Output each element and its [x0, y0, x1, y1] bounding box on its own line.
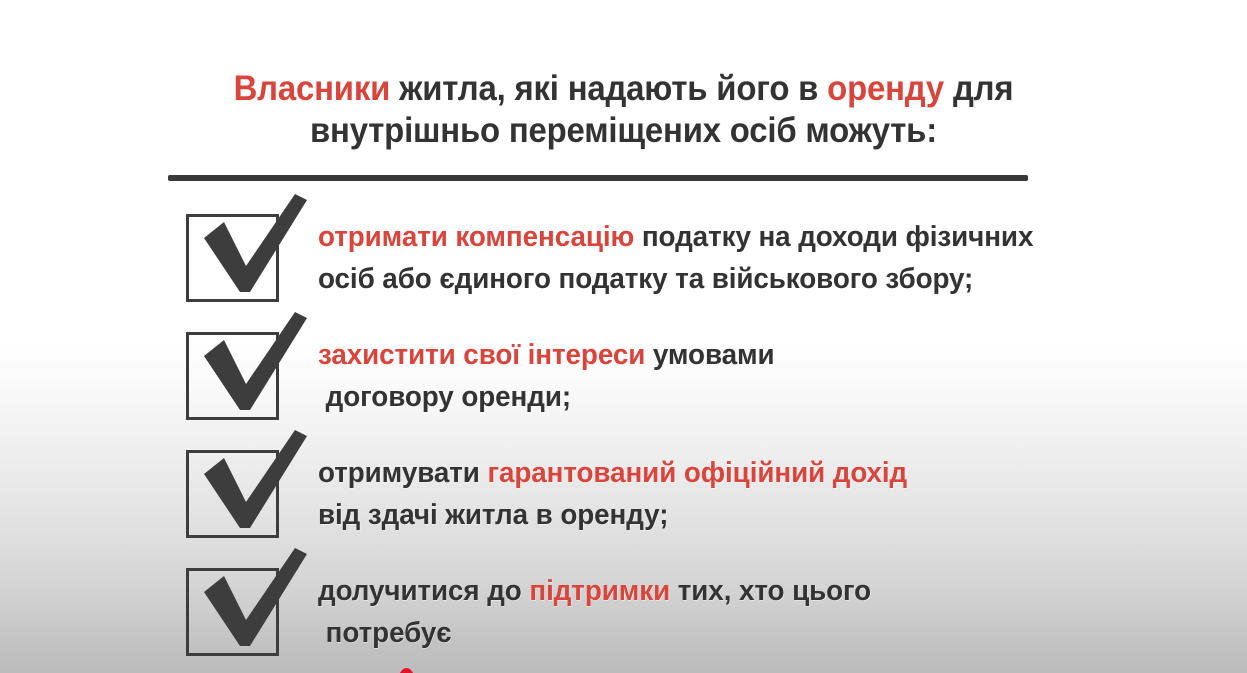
checkmark-icon: [182, 310, 312, 432]
text-run-default: договору оренди;: [326, 381, 571, 413]
list-item-line: отримати компенсацію податку на доходи ф…: [318, 216, 1163, 258]
list-item-line: від здачі житла в оренду;: [318, 494, 1163, 536]
checkbox-checked[interactable]: [186, 568, 283, 660]
text-run-accent: отримати компенсацію: [318, 221, 634, 253]
text-run-default: отримувати: [318, 457, 487, 489]
checkmark-icon: [182, 428, 312, 550]
text-run-default: долучитися до: [318, 575, 529, 607]
list-item-line: осіб або єдиного податку та військового …: [318, 258, 1163, 300]
text-run-default: від здачі житла в оренду;: [318, 499, 668, 531]
text-run-default: потребує: [326, 617, 452, 649]
slide-canvas: Власники житла, які надають його в оренд…: [0, 0, 1247, 673]
checkbox-checked[interactable]: [186, 332, 283, 424]
text-run-default: внутрішньо переміщених осіб можуть:: [310, 111, 937, 150]
text-run-accent: Власники: [234, 69, 399, 108]
checkbox-checked[interactable]: [186, 450, 283, 542]
list-item-text: отримувати гарантований офіційний дохідв…: [318, 452, 1163, 536]
text-run-default: податку на доходи фізичних: [634, 221, 1033, 253]
list-item: долучитися до підтримки тих, хто цьогопо…: [0, 566, 1247, 673]
list-item-text: долучитися до підтримки тих, хто цьогопо…: [318, 570, 1163, 654]
list-item-line: захистити свої інтереси умовами: [318, 334, 1163, 376]
checkmark-icon: [182, 192, 312, 314]
list-item-line: отримувати гарантований офіційний дохід: [318, 452, 1163, 494]
title-line-2: внутрішньо переміщених осіб можуть:: [37, 110, 1209, 152]
text-run-accent: підтримки: [529, 575, 670, 607]
text-run-default: тих, хто цього: [670, 575, 871, 607]
list-item-text: отримати компенсацію податку на доходи ф…: [318, 216, 1163, 300]
list-item-line: договору оренди;: [318, 376, 1163, 418]
text-run-default: осіб або єдиного податку та військового …: [318, 263, 973, 295]
text-run-accent: гарантований офіційний дохід: [487, 457, 907, 489]
list-item-line: потребує: [318, 612, 1163, 654]
text-run-default: для: [944, 69, 1013, 108]
checkmark-icon: [182, 546, 312, 668]
page-title: Власники житла, які надають його в оренд…: [0, 68, 1247, 152]
list-item-line: долучитися до підтримки тих, хто цього: [318, 570, 1163, 612]
text-run-default: житла, які надають його в: [399, 69, 827, 108]
checklist: отримати компенсацію податку на доходи ф…: [0, 212, 1247, 673]
title-line-1: Власники житла, які надають його в оренд…: [37, 68, 1209, 110]
list-item-text: захистити свої інтереси умовамидоговору …: [318, 334, 1163, 418]
text-run-default: умовами: [645, 339, 774, 371]
checkbox-checked[interactable]: [186, 214, 283, 306]
title-divider: [168, 175, 1028, 181]
text-run-accent: захистити свої інтереси: [318, 339, 645, 371]
text-run-accent: оренду: [827, 69, 944, 108]
